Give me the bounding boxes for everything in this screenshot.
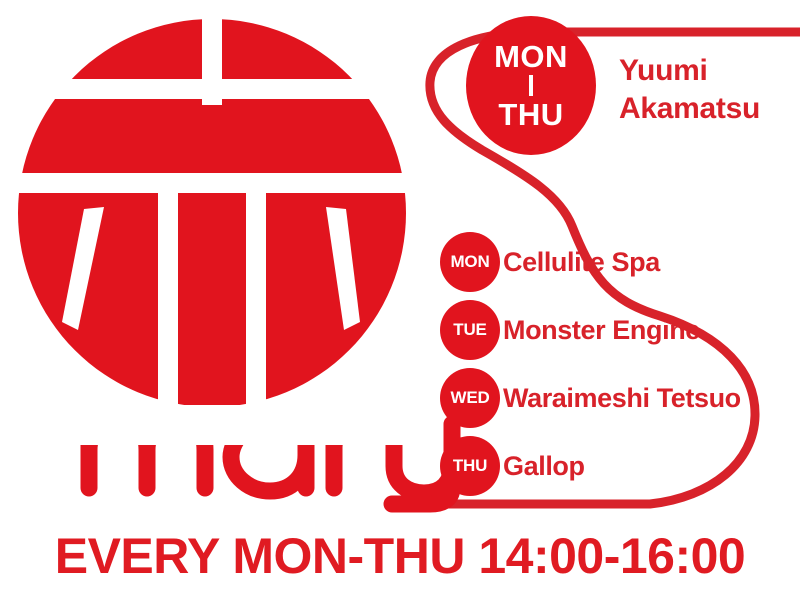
act-name: Monster Engine xyxy=(503,315,700,346)
headliner-name-line-1: Yuumi xyxy=(619,52,800,90)
day-badge-label: WED xyxy=(450,388,489,408)
day-badge-thu: THU xyxy=(440,436,500,496)
day-badge-mon: MON xyxy=(440,232,500,292)
headliner-name-line-2: Akamatsu xyxy=(619,90,800,128)
day-badge-label: MON xyxy=(450,252,489,272)
schedule-list: MON Cellulite Spa TUE Monster Engine WED… xyxy=(440,232,741,504)
showtime-banner: EVERY MON-THU 14:00-16:00 xyxy=(0,527,800,585)
hero-badge-top-label: MON xyxy=(494,41,568,72)
act-name: Cellulite Spa xyxy=(503,247,660,278)
list-item: MON Cellulite Spa xyxy=(440,232,741,292)
day-badge-tue: TUE xyxy=(440,300,500,360)
act-name: Waraimeshi Tetsuo xyxy=(503,383,741,414)
list-item: THU Gallop xyxy=(440,436,741,496)
act-name: Gallop xyxy=(503,451,585,482)
day-badge-label: TUE xyxy=(453,320,486,340)
hero-badge-bottom-label: THU xyxy=(498,99,563,130)
poster-canvas: MON THU Yuumi Akamatsu MON Cellulite Spa… xyxy=(0,0,800,600)
headliner-name: Yuumi Akamatsu xyxy=(619,52,800,129)
list-item: WED Waraimeshi Tetsuo xyxy=(440,368,741,428)
day-badge-wed: WED xyxy=(440,368,500,428)
list-item: TUE Monster Engine xyxy=(440,300,741,360)
day-badge-label: THU xyxy=(453,456,487,476)
hero-day-range-badge: MON THU xyxy=(466,16,596,155)
hero-badge-divider-icon xyxy=(529,75,533,96)
maru-circle-mark xyxy=(8,10,418,445)
